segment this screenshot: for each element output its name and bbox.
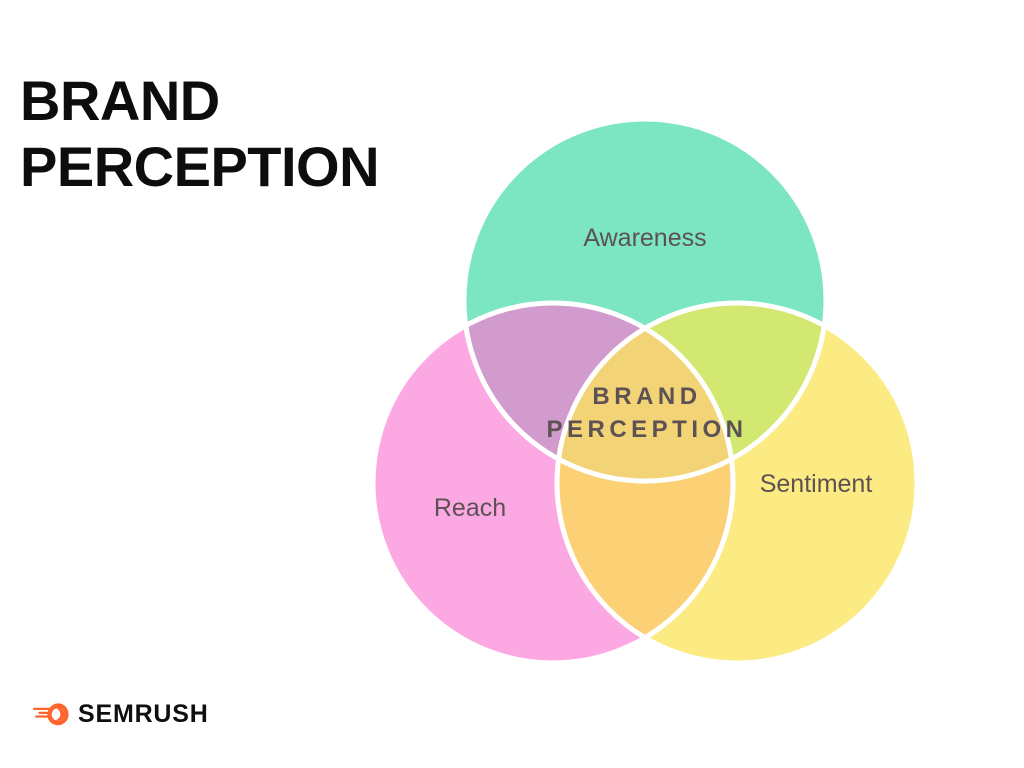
venn-center-label-line2: PERCEPTION xyxy=(546,416,747,443)
venn-diagram: Awareness Reach Sentiment BRAND PERCEPTI… xyxy=(320,80,980,700)
venn-label-sentiment: Sentiment xyxy=(760,470,873,498)
semrush-wordmark: SEMRUSH xyxy=(78,702,209,727)
venn-center-label-line1: BRAND xyxy=(592,383,701,410)
semrush-logo[interactable]: SEMRUSH xyxy=(33,697,209,731)
venn-svg: Awareness Reach Sentiment BRAND PERCEPTI… xyxy=(320,80,980,700)
slide-canvas: BRAND PERCEPTION xyxy=(0,0,1024,768)
semrush-comet-icon xyxy=(33,701,69,728)
venn-label-awareness: Awareness xyxy=(583,224,706,252)
venn-label-reach: Reach xyxy=(434,494,506,522)
